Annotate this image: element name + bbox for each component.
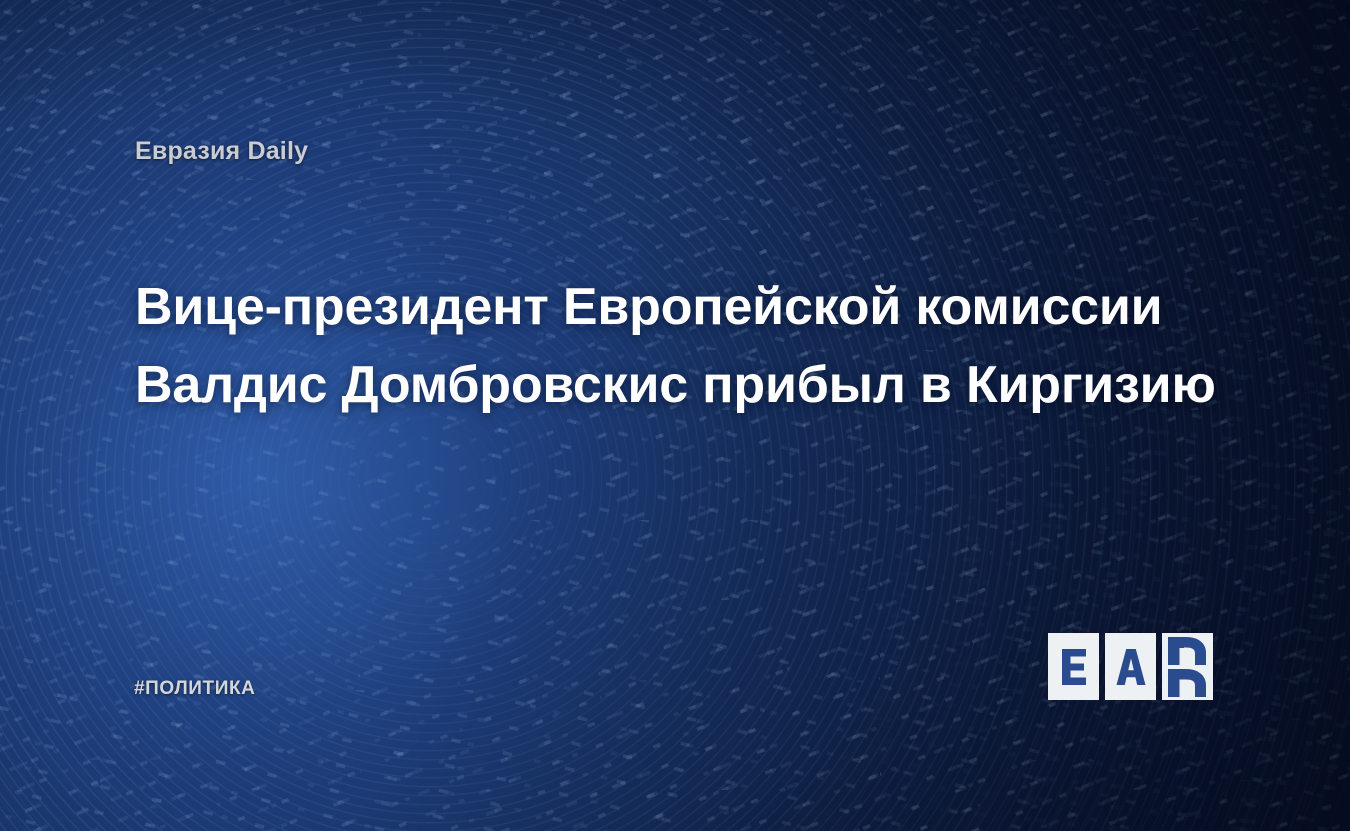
card-content: Евразия Daily Вице-президент Европейской… xyxy=(0,0,1350,831)
article-cover-card: Евразия Daily Вице-президент Европейской… xyxy=(0,0,1350,831)
letter-e-icon xyxy=(1060,647,1088,687)
eadaily-logo[interactable] xyxy=(1048,633,1213,700)
publication-brand: Евразия Daily xyxy=(135,137,308,166)
page-title: Вице-президент Европейской комиссии Валд… xyxy=(135,268,1245,424)
letter-d-icon xyxy=(1166,636,1210,698)
logo-tile-d xyxy=(1162,633,1213,700)
letter-a-icon xyxy=(1115,647,1147,687)
category-tag[interactable]: #ПОЛИТИКА xyxy=(134,678,256,700)
logo-tile-a xyxy=(1105,633,1156,700)
logo-tile-e xyxy=(1048,633,1099,700)
